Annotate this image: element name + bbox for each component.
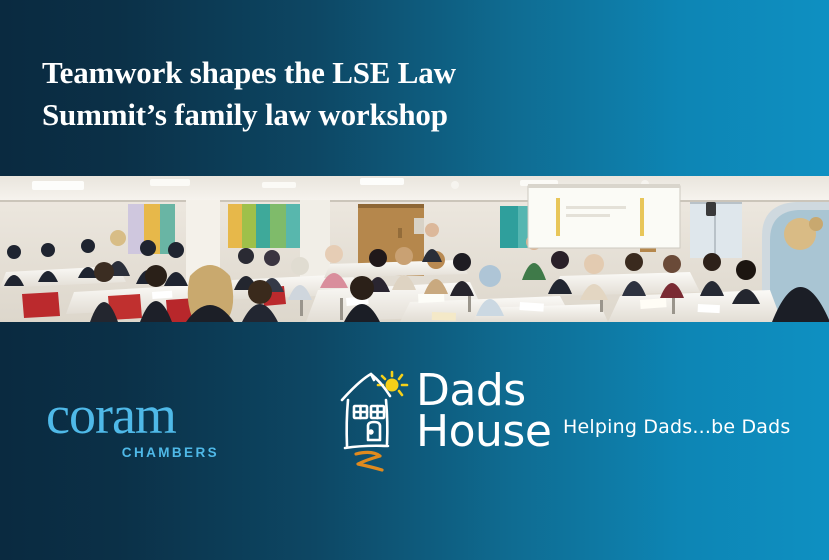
dads-word-line-1: Dads <box>416 370 551 411</box>
headline-line-1: Teamwork shapes the LSE Law <box>42 52 642 94</box>
dads-word-line-2: House <box>416 411 551 452</box>
banner-header: Teamwork shapes the LSE Law Summit’s fam… <box>0 0 829 176</box>
dads-house-tagline: Helping Dads...be Dads <box>563 416 791 438</box>
workshop-photo <box>0 176 829 322</box>
logo-row: coram CHAMBERS <box>0 322 829 560</box>
coram-wordmark: coram <box>46 390 221 441</box>
page-title: Teamwork shapes the LSE Law Summit’s fam… <box>42 52 642 136</box>
coram-subtitle: CHAMBERS <box>46 445 221 460</box>
coram-chambers-logo[interactable]: coram CHAMBERS <box>46 390 221 460</box>
dads-house-logo[interactable]: Dads House <box>338 370 551 472</box>
headline-line-2: Summit’s family law workshop <box>42 94 642 136</box>
house-with-sun-icon <box>338 370 410 472</box>
article-banner: Teamwork shapes the LSE Law Summit’s fam… <box>0 0 829 560</box>
dads-house-wordmark: Dads House <box>416 370 551 453</box>
